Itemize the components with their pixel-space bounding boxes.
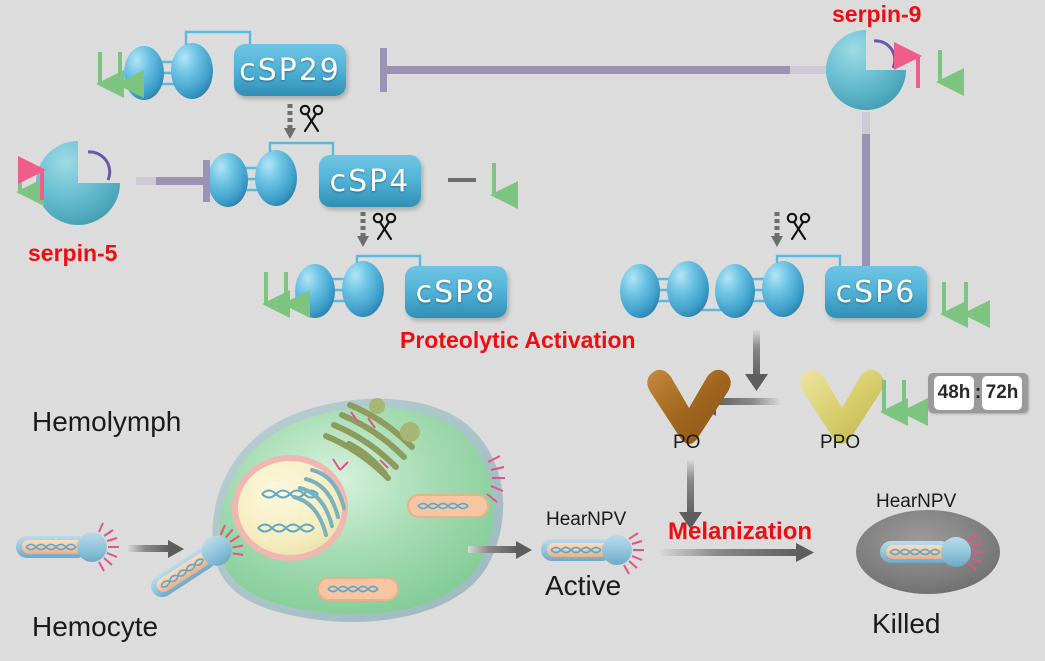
serpin-5-shape	[36, 141, 120, 225]
scissors-icon	[301, 106, 322, 131]
scissors-icon	[788, 214, 809, 239]
cleavage-csp6	[771, 212, 809, 247]
zymogen-csp6	[620, 256, 840, 318]
inhibition-serpin5-to-csp4	[136, 160, 210, 202]
nucleocapsid-internal-2	[318, 578, 398, 600]
inhibition-serpin9-to-csp6	[836, 112, 896, 283]
arrow-virion-entry	[128, 540, 184, 558]
scissors-icon	[374, 214, 395, 239]
melanization-label: Melanization	[668, 518, 812, 546]
timepoint-separator: :	[974, 382, 982, 404]
hemolymph-label: Hemolymph	[32, 406, 181, 438]
protease-box-csp8[interactable]: cSP8	[405, 266, 507, 318]
protease-box-csp4[interactable]: cSP4	[319, 155, 421, 207]
protease-label-csp8: cSP8	[416, 275, 497, 310]
regulation-csp29	[100, 52, 120, 84]
serpin-5-label: serpin-5	[28, 240, 117, 267]
po-label: PO	[673, 432, 700, 454]
regulation-csp6	[944, 282, 966, 314]
timepoint-48h-text: 48h	[938, 382, 971, 404]
proteolytic-activation-label: Proteolytic Activation	[400, 327, 636, 354]
protease-label-csp29: cSP29	[239, 53, 341, 88]
cleavage-csp4	[357, 212, 395, 247]
timepoint-card-48h: 48h	[934, 376, 974, 410]
regulation-serpin9	[918, 50, 940, 88]
hearnpv-active-name: HearNPV	[546, 509, 626, 531]
protease-box-csp6[interactable]: cSP6	[825, 266, 927, 318]
ppo-label: PPO	[820, 432, 860, 454]
timepoint-72h-text: 72h	[986, 382, 1019, 404]
active-label: Active	[545, 570, 621, 602]
serpin-9-shape	[826, 30, 906, 110]
timepoint-legend[interactable]: 48h : 72h	[928, 373, 1028, 413]
protease-box-csp29[interactable]: cSP29	[234, 44, 346, 96]
arrow-csp6-to-po	[745, 330, 768, 391]
serpin-9-label: serpin-9	[832, 1, 921, 28]
zymogen-csp29	[124, 32, 250, 100]
hearnpv-killed-name: HearNPV	[876, 491, 956, 513]
cleavage-csp29	[284, 104, 322, 139]
regulation-csp8	[266, 272, 286, 304]
nucleocapsid-internal-1	[408, 495, 488, 517]
virion-active	[541, 533, 644, 574]
protease-label-csp6: cSP6	[836, 275, 917, 310]
nucleus	[232, 455, 348, 561]
virion-free	[16, 523, 119, 571]
protease-label-csp4: cSP4	[330, 164, 411, 199]
zymogen-csp8	[295, 256, 420, 318]
zymogen-csp4	[208, 143, 333, 207]
hemocyte-label: Hemocyte	[32, 611, 158, 643]
regulation-ppo	[884, 380, 904, 412]
timepoint-card-72h: 72h	[982, 376, 1022, 410]
figure-canvas: cSP29 cSP4 cSP8 cSP6 serpin-5 serpin-9 P…	[0, 0, 1045, 661]
killed-label: Killed	[872, 608, 940, 640]
regulation-csp4	[448, 163, 494, 195]
virion-killed	[856, 510, 1000, 594]
inhibition-csp29-to-serpin9	[380, 48, 835, 92]
